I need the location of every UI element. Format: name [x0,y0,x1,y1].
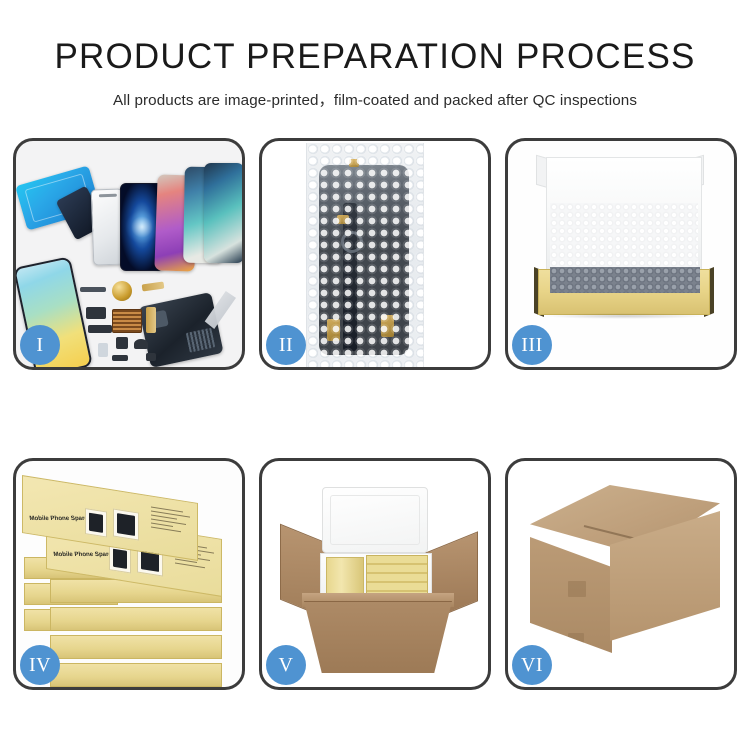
flex-cable-icon-1 [142,282,165,292]
stacked-box-side-6 [50,635,222,659]
page-subtitle: All products are image-printed，film-coat… [0,88,750,110]
process-step-2: II [259,138,491,370]
styrofoam-lid [322,487,428,553]
carton-front [304,601,452,673]
foam-sheet [550,203,698,269]
step-badge-2: II [266,325,306,365]
process-step-6: VI [505,458,737,690]
part-icon-7 [112,355,128,361]
part-icon-6 [98,343,108,357]
carton-tape-lower [568,633,584,647]
carton-tape-upper [568,581,586,597]
process-step-5: V [259,458,491,690]
stacked-box-side-7 [50,663,222,687]
process-step-3: III [505,138,737,370]
box-window-top-1 [85,508,107,537]
teal-display-icon-2 [204,163,244,263]
part-icon-5 [134,339,148,349]
circuit-board-icon [112,309,142,333]
part-icon-2 [86,307,106,319]
step-badge-4: IV [20,645,60,685]
header: PRODUCT PREPARATION PROCESS All products… [0,0,750,110]
stacked-box-side-5 [50,607,222,631]
bubble-wrap-fill [550,267,700,293]
part-icon-3 [88,325,112,333]
page-title: PRODUCT PREPARATION PROCESS [0,38,750,77]
speaker-module-icon [112,281,132,301]
process-step-1: I [13,138,245,370]
carton-left-face [530,537,612,653]
part-icon-4 [116,337,128,349]
box-shadow [542,313,706,319]
part-icon-8 [146,353,156,361]
box-spec-text-top [151,506,195,537]
bubble-wrap-texture-overlay [306,143,424,370]
step-badge-5: V [266,645,306,685]
process-step-grid: I II [13,138,737,690]
flex-cable-icon-2 [146,307,156,333]
part-icon-1 [80,287,106,292]
step-badge-6: VI [512,645,552,685]
box-window-top-2 [113,508,139,540]
product-preparation-infographic: PRODUCT PREPARATION PROCESS All products… [0,0,750,750]
step-badge-1: I [20,325,60,365]
process-step-4: Mobile Phone Spare Parts Mobile Phone Sp… [13,458,245,690]
step-badge-3: III [512,325,552,365]
